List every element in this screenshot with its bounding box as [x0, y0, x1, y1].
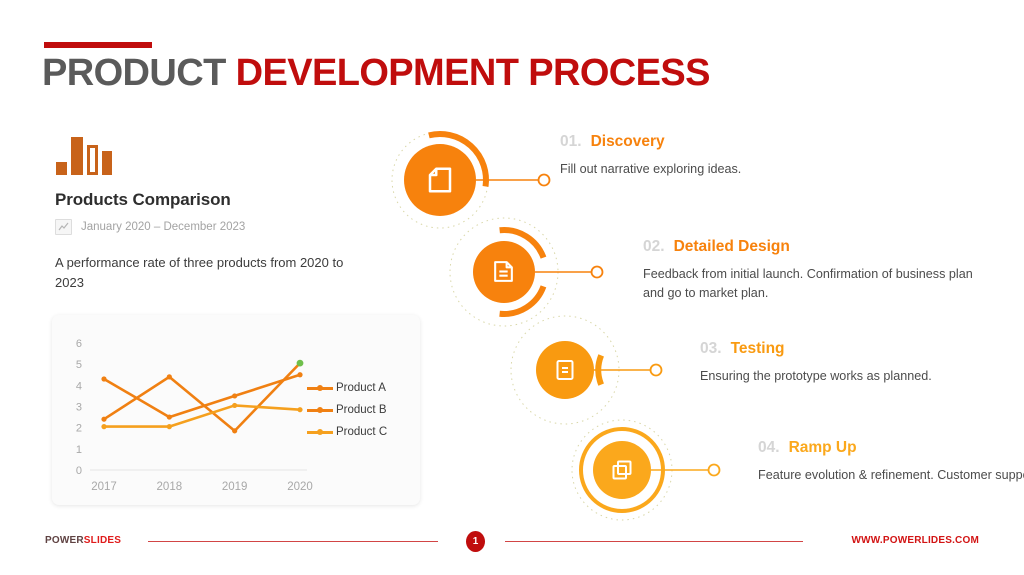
process-steps: 01.DiscoveryFill out narrative exploring… — [0, 0, 1024, 575]
page-number-badge: 1 — [466, 531, 485, 552]
step-number: 03. — [700, 340, 722, 358]
step-heading: 04.Ramp Up — [758, 439, 1024, 457]
step-number: 01. — [560, 133, 582, 151]
step-number: 02. — [643, 238, 665, 256]
step-number: 04. — [758, 439, 780, 457]
accent-arc — [598, 355, 601, 384]
step-title[interactable]: Detailed Design — [674, 238, 790, 256]
step-heading: 02.Detailed Design — [643, 238, 973, 256]
footer-divider-left — [148, 541, 438, 542]
step-description: Ensuring the prototype works as planned. — [700, 367, 1024, 386]
step-text-discovery: 01.DiscoveryFill out narrative exploring… — [560, 133, 890, 179]
brand-part2: SLIDES — [84, 535, 121, 546]
step-text-detailed-design: 02.Detailed DesignFeedback from initial … — [643, 238, 973, 303]
footer-divider-right — [505, 541, 803, 542]
connector-endpoint — [592, 267, 603, 278]
brand-part1: POWER — [45, 535, 84, 546]
step-text-ramp-up: 04.Ramp UpFeature evolution & refinement… — [758, 439, 1024, 485]
step-heading: 01.Discovery — [560, 133, 890, 151]
step-heading: 03.Testing — [700, 340, 1024, 358]
connector-endpoint — [539, 175, 550, 186]
slide: PRODUCT DEVELOPMENT PROCESS Products Com… — [0, 0, 1024, 575]
document-lines-icon — [490, 258, 519, 287]
document-frame-icon — [552, 357, 579, 384]
footer-website: WWW.POWERLIDES.COM — [852, 535, 979, 546]
step-title[interactable]: Ramp Up — [789, 439, 857, 457]
brand-logo: POWERSLIDES — [45, 535, 121, 546]
step-description: Feature evolution & refinement. Customer… — [758, 466, 1024, 485]
footer: POWERSLIDES 1 WWW.POWERLIDES.COM — [0, 530, 1024, 554]
copy-layers-icon — [609, 457, 636, 484]
connector-endpoint — [651, 365, 662, 376]
step-graphic-ramp-up[interactable] — [547, 395, 697, 545]
connector-endpoint — [709, 465, 720, 476]
document-icon — [423, 163, 456, 196]
step-description: Fill out narrative exploring ideas. — [560, 160, 890, 179]
step-title[interactable]: Testing — [731, 340, 785, 358]
step-title[interactable]: Discovery — [591, 133, 665, 151]
step-text-testing: 03.TestingEnsuring the prototype works a… — [700, 340, 1024, 386]
